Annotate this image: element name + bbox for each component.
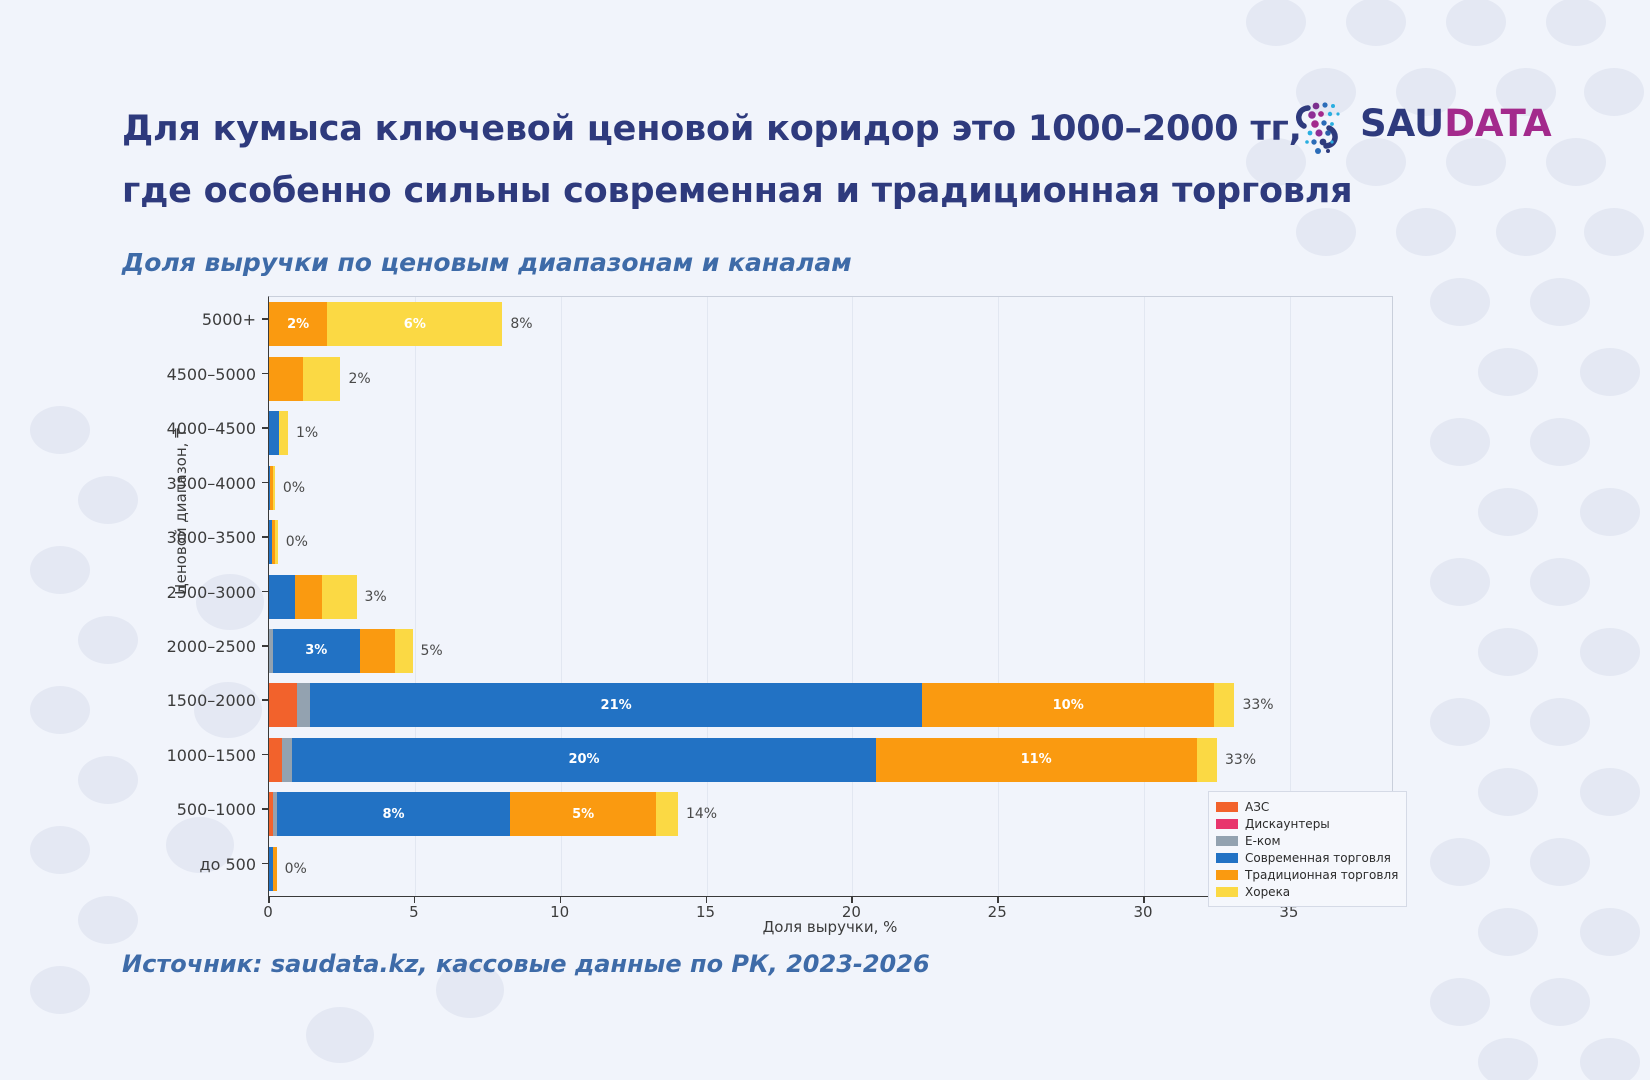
bar-segment: 5% xyxy=(510,792,656,836)
legend-item[interactable]: Е-ком xyxy=(1216,832,1398,849)
bar-segment-label: 8% xyxy=(277,792,510,836)
bar-segment-label: 5% xyxy=(510,792,656,836)
x-axis-tick-mark xyxy=(560,897,562,903)
bar-row: 2%6%8% xyxy=(269,297,533,351)
bar-segment xyxy=(1214,683,1234,727)
chart-legend: АЗСДискаунтерыЕ-комСовременная торговляТ… xyxy=(1208,791,1407,907)
bar-segment xyxy=(279,411,288,455)
legend-label: Е-ком xyxy=(1245,834,1281,848)
bar-row: 1% xyxy=(269,406,318,460)
bar-segment xyxy=(269,738,282,782)
bar-total-label: 8% xyxy=(510,316,532,332)
bar-segment: 8% xyxy=(277,792,510,836)
x-axis-tick-label: 5 xyxy=(409,903,419,921)
x-axis-label: Доля выручки, % xyxy=(763,918,898,936)
bar-row: 0% xyxy=(269,515,308,569)
bar-total-label: 3% xyxy=(365,589,387,605)
legend-item[interactable]: АЗС xyxy=(1216,798,1398,815)
bar-segment-label: 10% xyxy=(922,683,1214,727)
bar-total-label: 0% xyxy=(286,534,308,550)
x-axis-tick-label: 25 xyxy=(988,903,1007,921)
logo-text-sau: SAU xyxy=(1360,102,1444,145)
bar-segment: 21% xyxy=(310,683,923,727)
bar-total-label: 5% xyxy=(421,643,443,659)
bar-row: 8%5%14% xyxy=(269,787,717,841)
legend-label: Современная торговля xyxy=(1245,851,1391,865)
legend-item[interactable]: Дискаунтеры xyxy=(1216,815,1398,832)
bar-row: 0% xyxy=(269,842,307,896)
page-subtitle: Доля выручки по ценовым диапазонам и кан… xyxy=(122,248,852,277)
bar-segment xyxy=(269,411,279,455)
bar-segment: 3% xyxy=(273,629,361,673)
legend-label: АЗС xyxy=(1245,800,1269,814)
bar-segment-label: 11% xyxy=(876,738,1197,782)
bar-segment xyxy=(273,847,277,891)
source-note: Источник: saudata.kz, кассовые данные по… xyxy=(122,950,930,978)
bar-total-label: 33% xyxy=(1242,697,1273,713)
title-line-1: Для кумыса ключевой ценовой коридор это … xyxy=(122,98,1312,160)
legend-item[interactable]: Современная торговля xyxy=(1216,849,1398,866)
bar-row: 0% xyxy=(269,461,305,515)
y-axis-label: Ценовой диапазон, ₸ xyxy=(172,428,190,595)
y-axis-tick-label: 2000–2500 xyxy=(167,637,256,656)
bar-row: 21%10%33% xyxy=(269,678,1274,732)
y-axis-tick-label: 5000+ xyxy=(202,310,256,329)
bar-segment: 20% xyxy=(292,738,875,782)
bar-segment xyxy=(295,575,321,619)
gridline xyxy=(852,297,853,896)
bar-segment xyxy=(656,792,678,836)
bar-total-label: 2% xyxy=(348,371,370,387)
legend-item[interactable]: Хорека xyxy=(1216,883,1398,900)
legend-swatch xyxy=(1216,853,1238,863)
legend-swatch xyxy=(1216,887,1238,897)
saudata-logo: SAUDATA xyxy=(1288,96,1536,158)
bar-row: 3%5% xyxy=(269,624,443,678)
logo-text-data: DATA xyxy=(1444,102,1551,145)
bar-segment xyxy=(269,575,295,619)
x-axis-tick-mark xyxy=(414,897,416,903)
bar-segment: 11% xyxy=(876,738,1197,782)
bar-segment: 2% xyxy=(269,302,327,346)
bar-segment xyxy=(282,738,292,782)
x-axis-tick-label: 20 xyxy=(842,903,861,921)
bar-segment xyxy=(303,357,341,401)
x-axis-tick-mark xyxy=(997,897,999,903)
bar-segment xyxy=(275,520,278,564)
legend-label: Хорека xyxy=(1245,885,1290,899)
y-axis-tick-label: 4500–5000 xyxy=(167,365,256,384)
bar-total-label: 33% xyxy=(1225,752,1256,768)
bar-total-label: 1% xyxy=(296,425,318,441)
y-axis-tick-label: 1500–2000 xyxy=(167,691,256,710)
x-axis-tick-label: 10 xyxy=(550,903,569,921)
bar-segment-label: 3% xyxy=(273,629,361,673)
gridline xyxy=(1144,297,1145,896)
bar-segment xyxy=(360,629,395,673)
bar-segment xyxy=(1197,738,1217,782)
bar-row: 3% xyxy=(269,570,387,624)
legend-label: Дискаунтеры xyxy=(1245,817,1330,831)
y-axis-tick-label: 500–1000 xyxy=(177,800,256,819)
y-axis-tick-label: 1000–1500 xyxy=(167,746,256,765)
bar-total-label: 0% xyxy=(283,480,305,496)
bar-segment xyxy=(322,575,357,619)
legend-swatch xyxy=(1216,836,1238,846)
x-axis-tick-mark xyxy=(851,897,853,903)
legend-swatch xyxy=(1216,819,1238,829)
x-axis-tick-mark xyxy=(706,897,708,903)
bar-segment-label: 20% xyxy=(292,738,875,782)
legend-item[interactable]: Традиционная торговля xyxy=(1216,866,1398,883)
bar-segment xyxy=(269,683,297,727)
bar-segment: 10% xyxy=(922,683,1214,727)
bar-segment-label: 2% xyxy=(269,302,327,346)
x-axis-tick-mark xyxy=(268,897,270,903)
y-axis-tick-label: до 500 xyxy=(200,855,256,874)
bar-row: 2% xyxy=(269,352,371,406)
bar-segment-label: 21% xyxy=(310,683,923,727)
legend-label: Традиционная торговля xyxy=(1245,868,1398,882)
gridline xyxy=(998,297,999,896)
bar-segment xyxy=(297,683,310,727)
saudata-logo-text: SAUDATA xyxy=(1360,102,1552,145)
bar-segment xyxy=(273,466,274,510)
page-title: Для кумыса ключевой ценовой коридор это … xyxy=(122,98,1312,222)
bar-total-label: 0% xyxy=(285,861,307,877)
x-axis-tick-label: 0 xyxy=(263,903,273,921)
saudata-logo-mark xyxy=(1288,96,1350,158)
bar-row: 20%11%33% xyxy=(269,733,1256,787)
bar-segment: 6% xyxy=(327,302,502,346)
title-line-2: где особенно сильны современная и традиц… xyxy=(122,160,1312,222)
x-axis-tick-label: 30 xyxy=(1134,903,1153,921)
bar-segment xyxy=(269,357,303,401)
x-axis-tick-label: 15 xyxy=(696,903,715,921)
bar-segment xyxy=(395,629,413,673)
bar-segment-label: 6% xyxy=(327,302,502,346)
x-axis-tick-mark xyxy=(1143,897,1145,903)
legend-swatch xyxy=(1216,870,1238,880)
bar-total-label: 14% xyxy=(686,806,717,822)
legend-swatch xyxy=(1216,802,1238,812)
